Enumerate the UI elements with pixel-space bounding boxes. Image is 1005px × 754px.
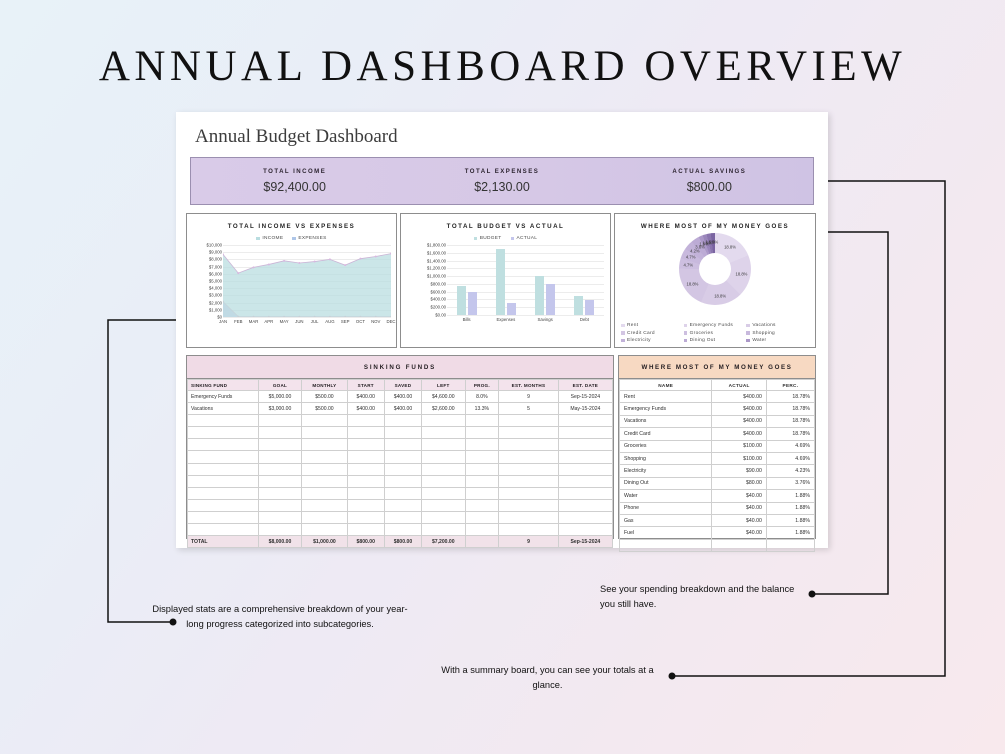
bar-group	[565, 245, 604, 315]
legend-swatch-icon	[684, 331, 688, 335]
table-cell[interactable]	[258, 475, 301, 487]
table-cell[interactable]: $400.00	[347, 403, 384, 415]
table-cell[interactable]	[422, 427, 465, 439]
table-cell[interactable]	[258, 499, 301, 511]
table-cell[interactable]	[188, 463, 259, 475]
table-row-empty[interactable]	[188, 415, 613, 427]
table-cell[interactable]: 8.0%	[465, 391, 499, 403]
table-cell[interactable]: $500.00	[302, 403, 347, 415]
x-axis-ticks: BillsExpensesSavingsDebt	[447, 317, 604, 329]
table-cell[interactable]	[188, 427, 259, 439]
area-fill	[223, 254, 391, 317]
table-cell[interactable]	[712, 539, 766, 551]
chart-legend: BUDGET ACTUAL	[401, 236, 610, 241]
table-cell[interactable]: $400.00	[712, 403, 766, 415]
table-cell[interactable]	[347, 475, 384, 487]
y-tick-label: $4,000	[209, 286, 222, 291]
chart-title: TOTAL INCOME VS EXPENSES	[187, 223, 396, 230]
table-cell[interactable]	[258, 439, 301, 451]
column-header: ACTUAL	[712, 380, 766, 391]
column-header: EST. MONTHS	[499, 380, 558, 391]
annotation-summary-board: With a summary board, you can see your t…	[430, 663, 665, 692]
table-row-empty[interactable]	[620, 539, 815, 551]
column-header: PROG.	[465, 380, 499, 391]
table-cell[interactable]	[558, 427, 612, 439]
y-tick-label: $7,000	[209, 264, 222, 269]
table-row[interactable]: Phone$40.001.88%	[620, 502, 815, 514]
spending-table: NAMEACTUALPERC. Rent$400.0018.78%Emergen…	[619, 379, 815, 552]
data-point	[298, 262, 300, 264]
table-cell[interactable]: 18.78%	[766, 415, 814, 427]
table-cell[interactable]: 1.88%	[766, 502, 814, 514]
table-cell[interactable]	[258, 487, 301, 499]
legend-label: Rent	[627, 323, 638, 328]
column-header: SAVED	[384, 380, 421, 391]
table-cell[interactable]: $80.00	[712, 477, 766, 489]
table-cell[interactable]: Shopping	[620, 452, 712, 464]
table-cell[interactable]	[302, 427, 347, 439]
kpi-total-income: TOTAL INCOME $92,400.00	[191, 158, 398, 204]
table-cell[interactable]: $400.00	[384, 391, 421, 403]
table-cell[interactable]	[302, 511, 347, 523]
legend-item: Rent	[621, 323, 684, 328]
table-cell[interactable]: 18.78%	[766, 391, 814, 403]
table-cell[interactable]	[384, 511, 421, 523]
table-cell[interactable]	[302, 475, 347, 487]
table-cell[interactable]: $100.00	[712, 452, 766, 464]
table-cell[interactable]	[347, 463, 384, 475]
pie-slice-label: 4.2%	[690, 248, 700, 253]
table-cell: 9	[499, 536, 558, 548]
x-tick-label: Savings	[537, 317, 552, 322]
bar-group	[486, 245, 525, 315]
y-tick-label: $2,000	[209, 300, 222, 305]
table-cell[interactable]: 3.76%	[766, 477, 814, 489]
table-cell[interactable]	[422, 475, 465, 487]
legend-item-income: INCOME	[256, 236, 283, 241]
table-cell[interactable]: $400.00	[712, 415, 766, 427]
table-cell[interactable]	[499, 463, 558, 475]
plot-area	[447, 245, 604, 315]
legend-item: Dining Out	[684, 338, 747, 343]
table-cell[interactable]	[558, 499, 612, 511]
legend-label: INCOME	[262, 236, 283, 241]
legend-item: Emergency Funds	[684, 323, 747, 328]
table-cell[interactable]	[499, 451, 558, 463]
legend-swatch-icon	[684, 339, 688, 343]
legend-item: Credit Card	[621, 331, 684, 336]
table-cell[interactable]: 1.88%	[766, 490, 814, 502]
x-tick-label: AUG	[325, 319, 334, 324]
table-row[interactable]: Emergency Funds$400.0018.78%	[620, 403, 815, 415]
table-row-empty[interactable]	[188, 499, 613, 511]
legend-item: Electricity	[621, 338, 684, 343]
table-row[interactable]: Shopping$100.004.69%	[620, 452, 815, 464]
table-cell[interactable]: 1.88%	[766, 527, 814, 539]
table-cell[interactable]	[384, 475, 421, 487]
table-row[interactable]: Dining Out$80.003.76%	[620, 477, 815, 489]
table-cell[interactable]: 18.78%	[766, 403, 814, 415]
table-cell[interactable]: Credit Card	[620, 428, 712, 440]
pie-slice-label: 18.8%	[714, 293, 726, 298]
table-cell[interactable]	[422, 415, 465, 427]
table-row-empty[interactable]	[188, 511, 613, 523]
table-cell[interactable]	[422, 451, 465, 463]
chart-title: TOTAL BUDGET VS ACTUAL	[401, 223, 610, 230]
table-cell[interactable]: 1.88%	[766, 514, 814, 526]
column-header: MONTHLY	[302, 380, 347, 391]
legend-label: Emergency Funds	[690, 323, 733, 328]
sinking-funds-panel: SINKING FUNDS SINKING FUNDGOALMONTHLYSTA…	[186, 355, 614, 539]
data-point	[253, 266, 255, 268]
table-cell[interactable]: $400.00	[712, 391, 766, 403]
table-cell[interactable]	[258, 415, 301, 427]
table-cell[interactable]	[258, 451, 301, 463]
y-tick-label: $800.00	[430, 281, 446, 286]
table-cell[interactable]	[465, 511, 499, 523]
table-cell[interactable]: $400.00	[712, 428, 766, 440]
table-cell[interactable]: $100.00	[712, 440, 766, 452]
table-cell[interactable]: $2,600.00	[422, 403, 465, 415]
bar	[457, 286, 466, 315]
table-cell[interactable]	[465, 415, 499, 427]
table-cell[interactable]: Emergency Funds	[620, 403, 712, 415]
sinking-funds-table: SINKING FUNDGOALMONTHLYSTARTSAVEDLEFTPRO…	[187, 379, 613, 548]
table-cell[interactable]	[766, 539, 814, 551]
y-tick-label: $1,000.00	[427, 274, 446, 279]
y-tick-label: $5,000	[209, 279, 222, 284]
legend-label: EXPENSES	[298, 236, 326, 241]
table-cell[interactable]	[384, 487, 421, 499]
x-axis-ticks: JANFEBMARAPRMAYJUNJULAUGSEPOCTNOVDEC	[223, 319, 391, 331]
table-cell[interactable]: Sep-15-2024	[558, 391, 612, 403]
legend-item: Vacations	[746, 323, 809, 328]
table-cell[interactable]	[465, 524, 499, 536]
table-cell[interactable]: 4.23%	[766, 465, 814, 477]
table-cell[interactable]	[302, 415, 347, 427]
table-cell[interactable]	[422, 524, 465, 536]
table-cell[interactable]	[302, 451, 347, 463]
table-cell[interactable]: Groceries	[620, 440, 712, 452]
table-cell[interactable]	[465, 427, 499, 439]
column-header: START	[347, 380, 384, 391]
kpi-label: TOTAL EXPENSES	[465, 168, 539, 175]
table-cell[interactable]	[347, 427, 384, 439]
x-tick-label: APR	[264, 319, 273, 324]
data-point	[237, 272, 239, 274]
table-body: Rent$400.0018.78%Emergency Funds$400.001…	[620, 391, 815, 552]
table-cell: $7,200.00	[422, 536, 465, 548]
bar	[574, 296, 583, 315]
x-tick-label: OCT	[356, 319, 365, 324]
legend-swatch-icon	[256, 237, 260, 241]
table-cell[interactable]: $90.00	[712, 465, 766, 477]
x-tick-label: NOV	[371, 319, 380, 324]
table-cell[interactable]: $4,600.00	[422, 391, 465, 403]
column-header: SINKING FUND	[188, 380, 259, 391]
bar	[535, 276, 544, 315]
table-row[interactable]: Gas$40.001.88%	[620, 514, 815, 526]
spending-breakdown-panel: WHERE MOST OF MY MONEY GOES NAMEACTUALPE…	[618, 355, 816, 539]
legend-label: BUDGET	[480, 236, 502, 241]
x-tick-label: JUL	[311, 319, 319, 324]
legend-label: Dining Out	[690, 338, 716, 343]
pie-slice-label: 1.9%	[709, 240, 719, 245]
table-cell[interactable]	[465, 463, 499, 475]
legend-item-budget: BUDGET	[474, 236, 502, 241]
table-cell[interactable]	[188, 511, 259, 523]
legend-item: Water	[746, 338, 809, 343]
table-row[interactable]: Water$40.001.88%	[620, 490, 815, 502]
table-cell[interactable]	[465, 439, 499, 451]
table-cell[interactable]	[188, 415, 259, 427]
table-cell[interactable]	[347, 415, 384, 427]
legend-label: ACTUAL	[517, 236, 538, 241]
table-cell[interactable]	[258, 524, 301, 536]
y-tick-label: $1,400.00	[427, 258, 446, 263]
table-cell[interactable]: Water	[620, 490, 712, 502]
annotation-spending-breakdown: See your spending breakdown and the bala…	[600, 582, 805, 611]
table-cell[interactable]	[384, 415, 421, 427]
kpi-total-expenses: TOTAL EXPENSES $2,130.00	[398, 158, 605, 204]
table-cell[interactable]	[499, 499, 558, 511]
data-point	[314, 261, 316, 263]
x-tick-label: JUN	[295, 319, 303, 324]
pie-slice-label: 18.8%	[687, 281, 699, 286]
table-cell[interactable]	[558, 415, 612, 427]
kpi-label: ACTUAL SAVINGS	[672, 168, 746, 175]
area-chart-plot: $0$1,000$2,000$3,000$4,000$5,000$6,000$7…	[187, 245, 396, 333]
table-row[interactable]: Fuel$40.001.88%	[620, 527, 815, 539]
table-cell[interactable]: $40.00	[712, 502, 766, 514]
table-cell[interactable]	[188, 524, 259, 536]
table-row-empty[interactable]	[188, 487, 613, 499]
table-cell[interactable]	[188, 499, 259, 511]
table-cell[interactable]	[422, 463, 465, 475]
x-tick-label: MAR	[249, 319, 259, 324]
table-cell[interactable]	[258, 463, 301, 475]
table-row-empty[interactable]	[188, 451, 613, 463]
table-cell[interactable]	[188, 487, 259, 499]
table-cell[interactable]	[422, 487, 465, 499]
table-cell[interactable]	[384, 499, 421, 511]
y-tick-label: $9,000	[209, 250, 222, 255]
legend-swatch-icon	[746, 324, 750, 328]
table-cell[interactable]: Dining Out	[620, 477, 712, 489]
legend-swatch-icon	[684, 324, 688, 328]
table-cell[interactable]	[422, 511, 465, 523]
y-tick-label: $200.00	[430, 305, 446, 310]
table-cell[interactable]	[302, 439, 347, 451]
x-tick-label: SEP	[341, 319, 350, 324]
table-cell[interactable]	[347, 487, 384, 499]
table-row[interactable]: Electricity$90.004.23%	[620, 465, 815, 477]
table-cell[interactable]	[302, 499, 347, 511]
legend-swatch-icon	[511, 237, 515, 241]
table-cell[interactable]	[465, 487, 499, 499]
y-axis-ticks: $0$1,000$2,000$3,000$4,000$5,000$6,000$7…	[189, 245, 222, 317]
table-cell[interactable]	[499, 487, 558, 499]
table-cell[interactable]: Electricity	[620, 465, 712, 477]
table-cell[interactable]: Phone	[620, 502, 712, 514]
table-cell[interactable]: Emergency Funds	[188, 391, 259, 403]
legend-swatch-icon	[292, 237, 296, 241]
table-cell[interactable]	[258, 511, 301, 523]
y-tick-label: $400.00	[430, 297, 446, 302]
table-cell[interactable]: May-15-2024	[558, 403, 612, 415]
table-cell[interactable]	[499, 439, 558, 451]
bar	[468, 292, 477, 315]
bar	[585, 300, 594, 315]
table-cell[interactable]: 18.78%	[766, 428, 814, 440]
x-tick-label: DEC	[386, 319, 395, 324]
table-cell[interactable]: 9	[499, 391, 558, 403]
table-cell[interactable]	[620, 539, 712, 551]
table-row[interactable]: Vacations$3,000.00$500.00$400.00$400.00$…	[188, 403, 613, 415]
table-cell[interactable]	[499, 511, 558, 523]
table-cell[interactable]: Rent	[620, 391, 712, 403]
table-cell[interactable]	[347, 451, 384, 463]
table-cell[interactable]	[347, 499, 384, 511]
y-tick-label: $600.00	[430, 289, 446, 294]
table-cell[interactable]	[465, 475, 499, 487]
table-row-empty[interactable]	[188, 524, 613, 536]
table-cell[interactable]	[499, 427, 558, 439]
kpi-value: $2,130.00	[474, 180, 530, 194]
table-cell[interactable]	[499, 475, 558, 487]
legend-item: Shopping	[746, 331, 809, 336]
column-header: NAME	[620, 380, 712, 391]
table-cell[interactable]	[558, 475, 612, 487]
gridline	[447, 315, 604, 316]
table-row[interactable]: Credit Card$400.0018.78%	[620, 428, 815, 440]
bar	[496, 249, 505, 315]
table-header-row: NAMEACTUALPERC.	[620, 380, 815, 391]
legend-swatch-icon	[746, 331, 750, 335]
table-cell[interactable]	[258, 427, 301, 439]
legend-item-actual: ACTUAL	[511, 236, 538, 241]
legend-item-expenses: EXPENSES	[292, 236, 326, 241]
pie-slice-label: 4.7%	[684, 262, 694, 267]
table-cell[interactable]	[347, 524, 384, 536]
pie-slice-label: 4.7%	[686, 255, 696, 260]
table-cell[interactable]	[499, 415, 558, 427]
table-row-empty[interactable]	[188, 427, 613, 439]
kpi-actual-savings: ACTUAL SAVINGS $800.00	[606, 158, 813, 204]
bar-chart-plot: $0.00$200.00$400.00$600.00$800.00$1,000.…	[401, 245, 610, 335]
donut-chart-plot: 18.8%18.8%18.8%18.8%4.7%4.7%4.2%3.8%1.9%…	[615, 232, 815, 316]
bar-group	[526, 245, 565, 315]
legend-label: Electricity	[627, 338, 651, 343]
y-tick-label: $8,000	[209, 257, 222, 262]
legend-swatch-icon	[621, 331, 625, 335]
table-row[interactable]: Vacations$400.0018.78%	[620, 415, 815, 427]
table-cell[interactable]: $3,000.00	[258, 403, 301, 415]
y-tick-label: $1,000	[209, 307, 222, 312]
table-cell[interactable]	[347, 439, 384, 451]
bar	[546, 284, 555, 315]
table-cell[interactable]	[302, 463, 347, 475]
table-row[interactable]: Emergency Funds$5,000.00$500.00$400.00$4…	[188, 391, 613, 403]
dashboard-card: Annual Budget Dashboard TOTAL INCOME $92…	[176, 112, 828, 548]
table-cell[interactable]: $40.00	[712, 514, 766, 526]
table-cell[interactable]: $5,000.00	[258, 391, 301, 403]
table-cell[interactable]: $40.00	[712, 490, 766, 502]
table-row[interactable]: Rent$400.0018.78%	[620, 391, 815, 403]
legend-swatch-icon	[474, 237, 478, 241]
table-cell[interactable]	[422, 439, 465, 451]
table-cell[interactable]	[499, 524, 558, 536]
table-cell[interactable]	[302, 524, 347, 536]
table-cell[interactable]: 4.69%	[766, 440, 814, 452]
table-cell: Sep-15-2024	[558, 536, 612, 548]
table-cell[interactable]: 5	[499, 403, 558, 415]
column-header: EST. DATE	[558, 380, 612, 391]
table-cell[interactable]	[188, 451, 259, 463]
chart-title: WHERE MOST OF MY MONEY GOES	[615, 223, 815, 230]
table-cell[interactable]: $40.00	[712, 527, 766, 539]
table-cell[interactable]	[465, 499, 499, 511]
table-cell[interactable]: 13.3%	[465, 403, 499, 415]
table-cell[interactable]	[188, 475, 259, 487]
table-cell[interactable]	[384, 439, 421, 451]
table-cell: $800.00	[347, 536, 384, 548]
plot-area	[223, 245, 391, 317]
table-cell[interactable]	[558, 463, 612, 475]
table-row-empty[interactable]	[188, 475, 613, 487]
kpi-value: $800.00	[687, 180, 732, 194]
table-row-empty[interactable]	[188, 439, 613, 451]
column-header: PERC.	[766, 380, 814, 391]
dashboard-title: Annual Budget Dashboard	[195, 126, 398, 148]
table-cell[interactable]: $400.00	[347, 391, 384, 403]
data-point	[375, 256, 377, 258]
legend-swatch-icon	[621, 324, 625, 328]
sinking-funds-title: SINKING FUNDS	[187, 356, 613, 379]
table-cell[interactable]	[188, 439, 259, 451]
table-cell[interactable]	[558, 487, 612, 499]
table-row-empty[interactable]	[188, 463, 613, 475]
table-cell[interactable]: $400.00	[384, 403, 421, 415]
table-cell[interactable]	[384, 463, 421, 475]
table-cell[interactable]	[347, 511, 384, 523]
gridline	[223, 317, 391, 318]
table-cell[interactable]	[465, 451, 499, 463]
table-cell[interactable]: Fuel	[620, 527, 712, 539]
chart-money-distribution: WHERE MOST OF MY MONEY GOES 18.8%18.8%18…	[614, 213, 816, 348]
table-cell[interactable]	[558, 524, 612, 536]
table-cell[interactable]	[384, 451, 421, 463]
table-row[interactable]: Groceries$100.004.69%	[620, 440, 815, 452]
x-tick-label: FEB	[234, 319, 242, 324]
table-cell[interactable]	[302, 487, 347, 499]
table-cell[interactable]: 4.69%	[766, 452, 814, 464]
y-axis-ticks: $0.00$200.00$400.00$600.00$800.00$1,000.…	[403, 245, 446, 315]
table-cell[interactable]	[558, 439, 612, 451]
table-cell[interactable]: Vacations	[188, 403, 259, 415]
table-cell[interactable]: $500.00	[302, 391, 347, 403]
pie-slice-label: 18.8%	[736, 272, 748, 277]
table-cell[interactable]: Vacations	[620, 415, 712, 427]
page-title: ANNUAL DASHBOARD OVERVIEW	[0, 42, 1005, 91]
table-cell[interactable]: Gas	[620, 514, 712, 526]
legend-item: Groceries	[684, 331, 747, 336]
table-cell[interactable]	[384, 427, 421, 439]
table-cell[interactable]	[558, 511, 612, 523]
table-cell[interactable]	[558, 451, 612, 463]
table-cell[interactable]	[384, 524, 421, 536]
table-cell[interactable]	[422, 499, 465, 511]
